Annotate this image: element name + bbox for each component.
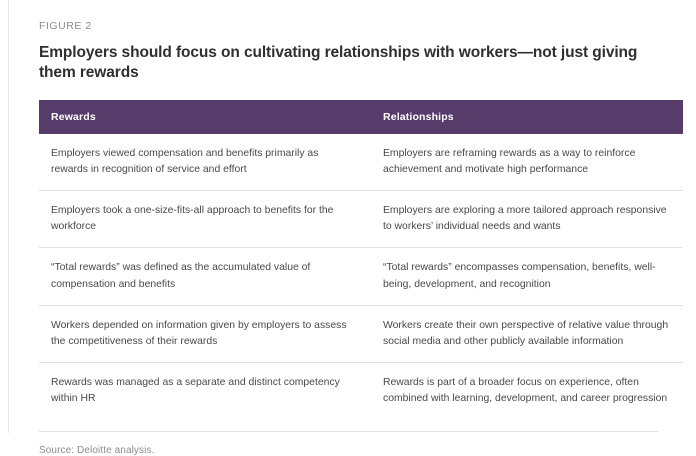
figure-card: FIGURE 2 Employers should focus on culti… [8,0,696,433]
table-body: Employers viewed compensation and benefi… [39,134,683,419]
cell-relationships: “Total rewards” encompasses compensation… [371,248,683,305]
cell-rewards: Rewards was managed as a separate and di… [39,362,371,419]
page-title: Employers should focus on cultivating re… [39,43,666,84]
cell-rewards: Employers viewed compensation and benefi… [39,134,371,191]
cell-relationships: Workers create their own perspective of … [371,305,683,362]
cell-relationships: Employers are reframing rewards as a way… [371,134,683,191]
figure-content: FIGURE 2 Employers should focus on culti… [9,0,696,456]
table-header-row: Rewards Relationships [39,100,683,134]
column-header-rewards: Rewards [39,100,371,134]
cell-relationships: Rewards is part of a broader focus on ex… [371,362,683,419]
figure-label: FIGURE 2 [39,20,666,32]
table-header: Rewards Relationships [39,100,683,134]
source-note: Source: Deloitte analysis. [39,432,666,456]
table-row: Employers viewed compensation and benefi… [39,134,683,191]
table-row: “Total rewards” was defined as the accum… [39,248,683,305]
cell-rewards: Employers took a one-size-fits-all appro… [39,191,371,248]
table-row: Rewards was managed as a separate and di… [39,362,683,419]
cell-relationships: Employers are exploring a more tailored … [371,191,683,248]
cell-rewards: “Total rewards” was defined as the accum… [39,248,371,305]
comparison-table: Rewards Relationships Employers viewed c… [39,100,683,419]
column-header-relationships: Relationships [371,100,683,134]
table-row: Employers took a one-size-fits-all appro… [39,191,683,248]
cell-rewards: Workers depended on information given by… [39,305,371,362]
table-row: Workers depended on information given by… [39,305,683,362]
